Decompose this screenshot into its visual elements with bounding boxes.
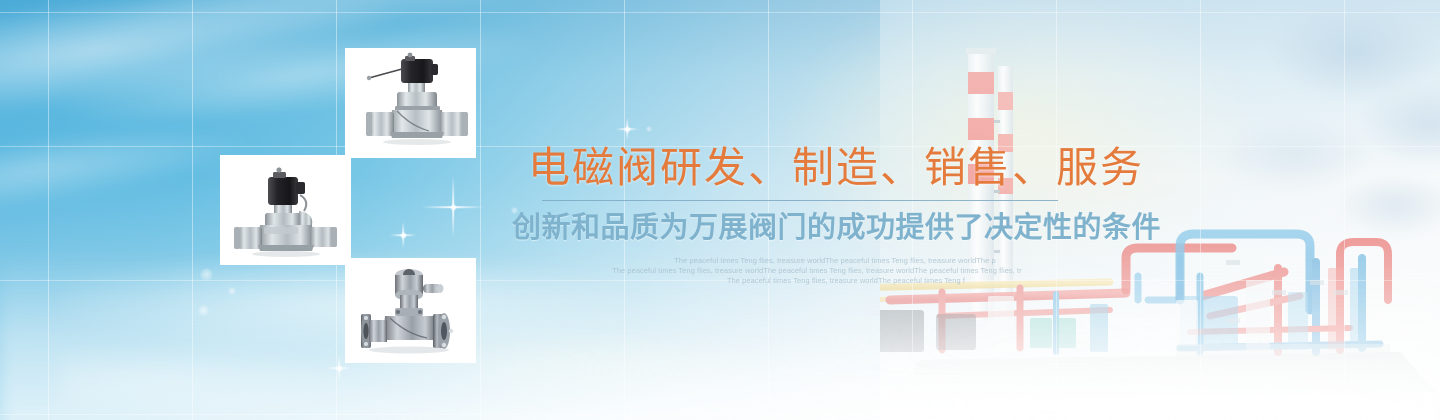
hero-banner: 电磁阀研发、制造、销售、服务 创新和品质为万展阀门的成功提供了决定性的条件 Th… [0, 0, 1440, 420]
headline-divider [542, 200, 1058, 201]
banner-fineprint: The peaceful times Teng flies, treasure … [620, 256, 1050, 286]
fineprint-line-3: The peaceful times Teng flies, treasure … [642, 276, 1050, 286]
banner-headline: 电磁阀研发、制造、销售、服务 [528, 146, 1128, 190]
product-photo-solenoid-valve-flanged-bottom [345, 258, 476, 363]
fineprint-line-1: The peaceful times Teng flies, treasure … [620, 256, 1050, 266]
product-tile-solenoid-valve-threaded-left[interactable] [220, 155, 351, 265]
product-tile-solenoid-valve-threaded-top[interactable] [345, 48, 476, 158]
fineprint-line-2: The peaceful times Teng flies, treasure … [584, 266, 1050, 276]
product-photo-solenoid-valve-threaded-top [345, 48, 476, 158]
product-photo-solenoid-valve-threaded-left [220, 155, 351, 265]
banner-text-block: 电磁阀研发、制造、销售、服务 创新和品质为万展阀门的成功提供了决定性的条件 [528, 146, 1128, 245]
product-tile-solenoid-valve-flanged-bottom[interactable] [345, 258, 476, 363]
banner-subheadline: 创新和品质为万展阀门的成功提供了决定性的条件 [512, 213, 1128, 245]
